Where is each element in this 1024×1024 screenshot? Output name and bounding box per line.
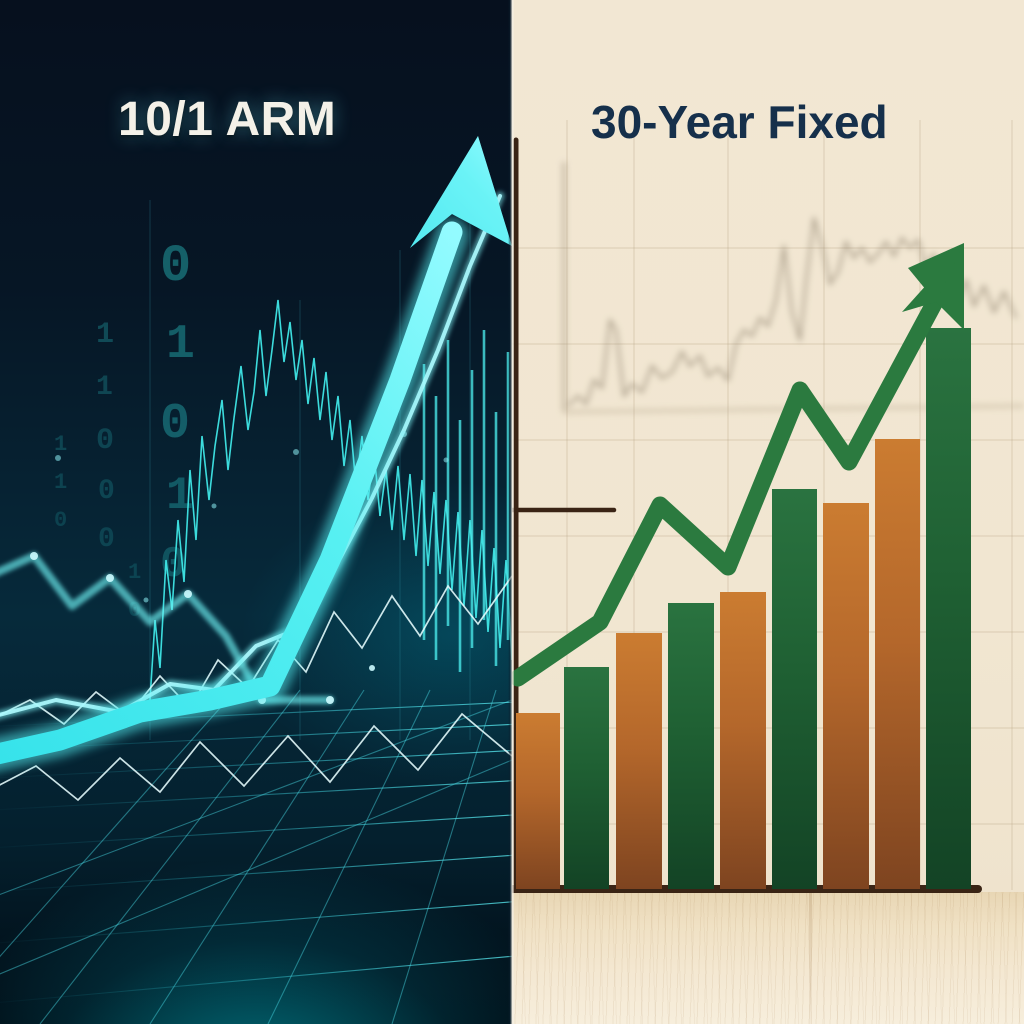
trend-arrow-icon [512,0,1024,1024]
comparison-graphic: 0 1 0 1 0 1 1 0 0 0 1 1 0 1 0 [0,0,1024,1024]
left-panel-arm: 0 1 0 1 0 1 1 0 0 0 1 1 0 1 0 [0,0,512,1024]
right-panel-fixed: 30-Year Fixed [512,0,1024,1024]
panel-divider [508,0,514,1024]
growth-arrow-icon [0,0,512,1024]
right-panel-title: 30-Year Fixed [591,95,888,149]
left-panel-title: 10/1 ARM [118,92,336,147]
